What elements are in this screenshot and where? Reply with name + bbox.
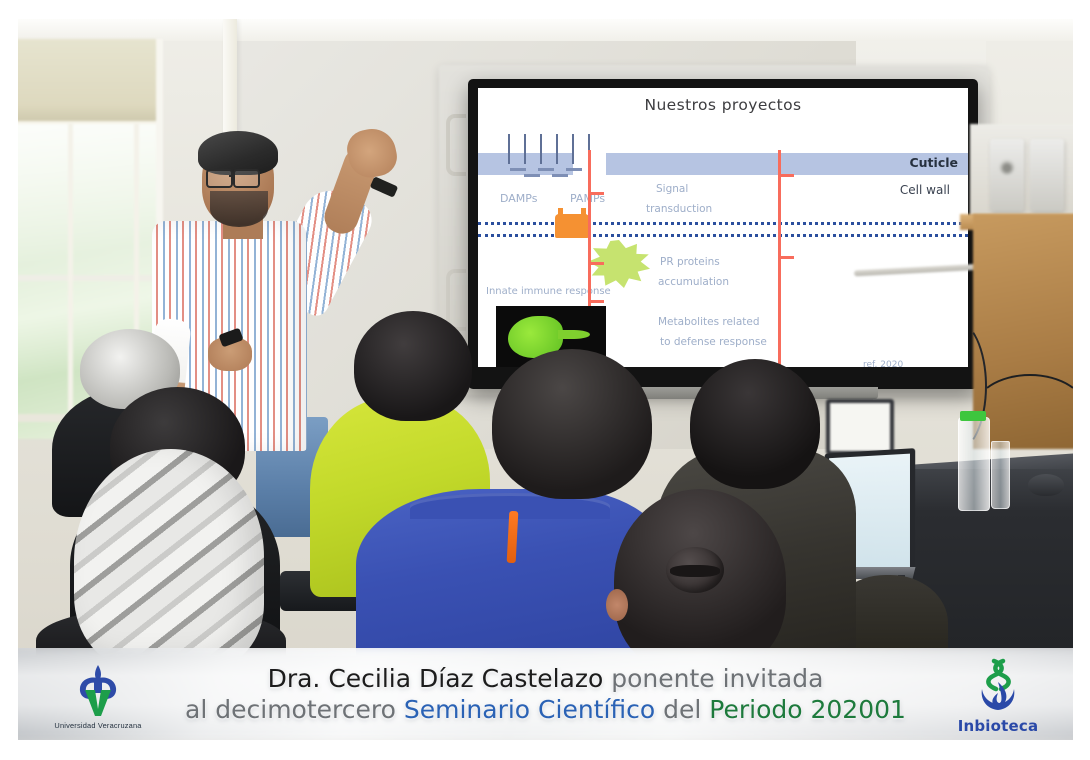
drinking-glass	[991, 441, 1010, 509]
desktop-speaker	[990, 139, 1024, 211]
wall-display: Nuestros proyectos Cuticle Cell wall DAM…	[468, 79, 978, 389]
hair-tie	[670, 565, 720, 577]
mount-handle-icon	[446, 114, 466, 176]
inbioteca-logo: Inbioteca	[933, 653, 1063, 739]
event-connector: del	[655, 695, 709, 724]
slide-label-damps: DAMPs	[500, 192, 537, 205]
presentation-slide: Nuestros proyectos Cuticle Cell wall DAM…	[478, 88, 968, 367]
banner-caption-text: Dra. Cecilia Díaz Castelazo ponente invi…	[18, 648, 1073, 740]
audience-member-headscarf	[74, 449, 264, 669]
event-name: Seminario Científico	[404, 695, 655, 724]
dna-flame-icon	[969, 658, 1027, 716]
slide-faint-text: Signal	[656, 183, 688, 195]
eyeglasses-icon	[233, 169, 260, 188]
slide-membrane-line	[478, 222, 968, 225]
computer-mouse	[1028, 474, 1064, 496]
speaker-name: Dra. Cecilia Díaz Castelazo	[268, 664, 604, 693]
secondary-monitor	[826, 399, 894, 455]
eyeglasses-icon	[206, 169, 233, 188]
event-period: Periodo 202001	[709, 695, 906, 724]
ear	[606, 589, 628, 621]
window-mullion	[68, 124, 73, 439]
slide-label-cuticle: Cuticle	[909, 155, 958, 170]
slide-label-cell-wall: Cell wall	[900, 183, 950, 197]
slide-faint-text: Innate immune response	[486, 286, 611, 297]
eyeglasses-bridge	[229, 175, 234, 177]
audience-member-head	[354, 311, 472, 421]
slide-faint-text: Metabolites related	[658, 316, 760, 328]
speaker-role: ponente invitada	[603, 664, 823, 693]
water-bottle	[958, 417, 990, 511]
room-ceiling	[18, 19, 1073, 41]
inbioteca-logo-caption: Inbioteca	[958, 717, 1039, 735]
audience-member-head	[492, 349, 652, 499]
slide-spike-diagram	[508, 134, 598, 176]
slide-membrane-line	[478, 234, 968, 237]
presenter-beard	[210, 191, 268, 227]
slide-faint-text: transduction	[646, 203, 712, 215]
window-blind	[18, 39, 156, 124]
photo-card: Nuestros proyectos Cuticle Cell wall DAM…	[0, 0, 1090, 760]
slide-faint-text: PR proteins	[660, 256, 720, 268]
slide-receptor-icon	[555, 214, 589, 238]
slide-faint-text: accumulation	[658, 276, 729, 288]
event-prefix: al decimotercero	[185, 695, 404, 724]
slide-faint-text: ref. 2020	[863, 360, 903, 367]
caption-banner: Universidad Veracruzana Dra. Cecilia Día…	[18, 648, 1073, 740]
desktop-speaker	[1030, 139, 1064, 211]
seminar-photo: Nuestros proyectos Cuticle Cell wall DAM…	[18, 19, 1073, 740]
slide-faint-text: to defense response	[660, 336, 767, 348]
bottle-cap	[960, 411, 986, 421]
audience-member-head	[690, 359, 820, 489]
slide-title: Nuestros proyectos	[478, 96, 968, 114]
